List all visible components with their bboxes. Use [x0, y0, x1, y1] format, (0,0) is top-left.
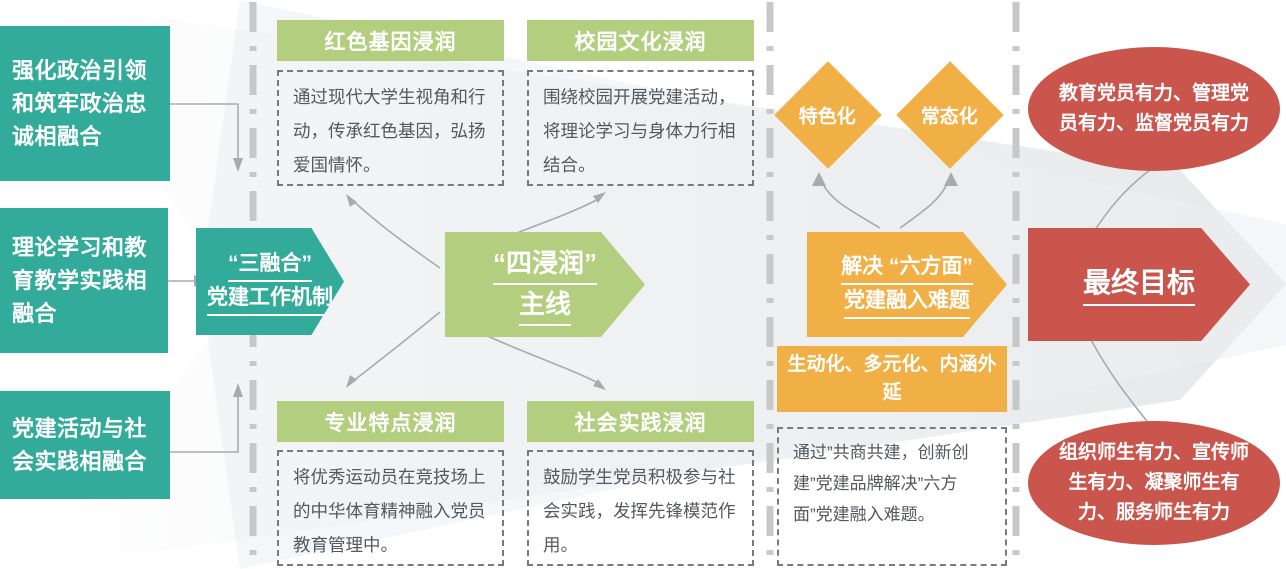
outcome-ellipse-top-label: 教育党员有力、管理党员有力、监督党员有力 — [1050, 79, 1258, 139]
fusion-item-2-label: 理论学习和教育教学实践相融合 — [12, 231, 158, 330]
diamond-changtai-hua-label: 常态化 — [921, 101, 978, 128]
solution-note-text: 通过”共商共建，创新创建”党建品牌解决”六方面”党建融入难题。 — [793, 443, 969, 524]
immersion-card-1-body-text: 通过现代大学生视角和行动，传承红色基因，弘扬爱国情怀。 — [293, 87, 486, 175]
solution-line-2: 党建融入难题 — [844, 285, 970, 319]
fusion-item-1[interactable]: 强化政治引领和筑牢政治忠诚相融合 — [0, 26, 170, 181]
immersion-card-4-title[interactable]: 社会实践浸润 — [527, 401, 754, 442]
immersion-card-4-body: 鼓励学生党员积极参与社会实践，发挥先锋模范作用。 — [527, 450, 754, 566]
fusion-item-3-label: 党建活动与社会实践相融合 — [12, 412, 160, 478]
four-immersion-line-2: 主线 — [519, 285, 571, 326]
immersion-card-2-title[interactable]: 校园文化浸润 — [527, 20, 754, 61]
immersion-card-2-title-label: 校园文化浸润 — [575, 26, 707, 56]
outcome-ellipse-top[interactable]: 教育党员有力、管理党员有力、监督党员有力 — [1028, 47, 1280, 171]
immersion-card-1-title-label: 红色基因浸润 — [325, 26, 457, 56]
four-immersion-line-1: “四浸润” — [493, 244, 597, 285]
three-fusion-line-2: 党建工作机制 — [207, 282, 333, 316]
immersion-card-1-title[interactable]: 红色基因浸润 — [277, 20, 504, 61]
immersion-card-4-title-label: 社会实践浸润 — [575, 407, 707, 437]
immersion-card-3-title[interactable]: 专业特点浸润 — [277, 401, 504, 442]
diamond-tese-hua-label: 特色化 — [799, 101, 856, 128]
immersion-card-3-body-text: 将优秀运动员在竞技场上的中华体育精神融入党员教育管理中。 — [293, 467, 486, 555]
immersion-card-4-body-text: 鼓励学生党员积极参与社会实践，发挥先锋模范作用。 — [543, 467, 736, 555]
immersion-card-1-body: 通过现代大学生视角和行动，传承红色基因，弘扬爱国情怀。 — [277, 70, 504, 186]
orange-attributes-band[interactable]: 生动化、多元化、内涵外延 — [777, 346, 1007, 412]
outcome-ellipse-bottom[interactable]: 组织师生有力、宣传师生有力、凝聚师生有力、服务师生有力 — [1028, 421, 1280, 545]
immersion-card-2-body: 围绕校园开展党建活动，将理论学习与身体力行相结合。 — [527, 70, 754, 186]
three-fusion-line-1: “三融合” — [228, 248, 312, 282]
immersion-card-3-title-label: 专业特点浸润 — [325, 407, 457, 437]
fusion-item-2[interactable]: 理论学习和教育教学实践相融合 — [0, 208, 168, 353]
fusion-item-1-label: 强化政治引领和筑牢政治忠诚相融合 — [12, 54, 160, 153]
immersion-card-3-body: 将优秀运动员在竞技场上的中华体育精神融入党员教育管理中。 — [277, 450, 504, 566]
solution-note: 通过”共商共建，创新创建”党建品牌解决”六方面”党建融入难题。 — [777, 427, 1007, 566]
fusion-item-3[interactable]: 党建活动与社会实践相融合 — [0, 391, 170, 499]
immersion-card-2-body-text: 围绕校园开展党建活动，将理论学习与身体力行相结合。 — [543, 87, 736, 175]
outcome-ellipse-bottom-label: 组织师生有力、宣传师生有力、凝聚师生有力、服务师生有力 — [1050, 438, 1258, 528]
orange-attributes-label: 生动化、多元化、内涵外延 — [787, 351, 997, 407]
solution-line-1: 解决 “六方面” — [841, 251, 973, 285]
final-goal-label: 最终目标 — [1083, 263, 1195, 306]
diagram-canvas: 强化政治引领和筑牢政治忠诚相融合 理论学习和教育教学实践相融合 党建活动与社会实… — [0, 0, 1286, 569]
